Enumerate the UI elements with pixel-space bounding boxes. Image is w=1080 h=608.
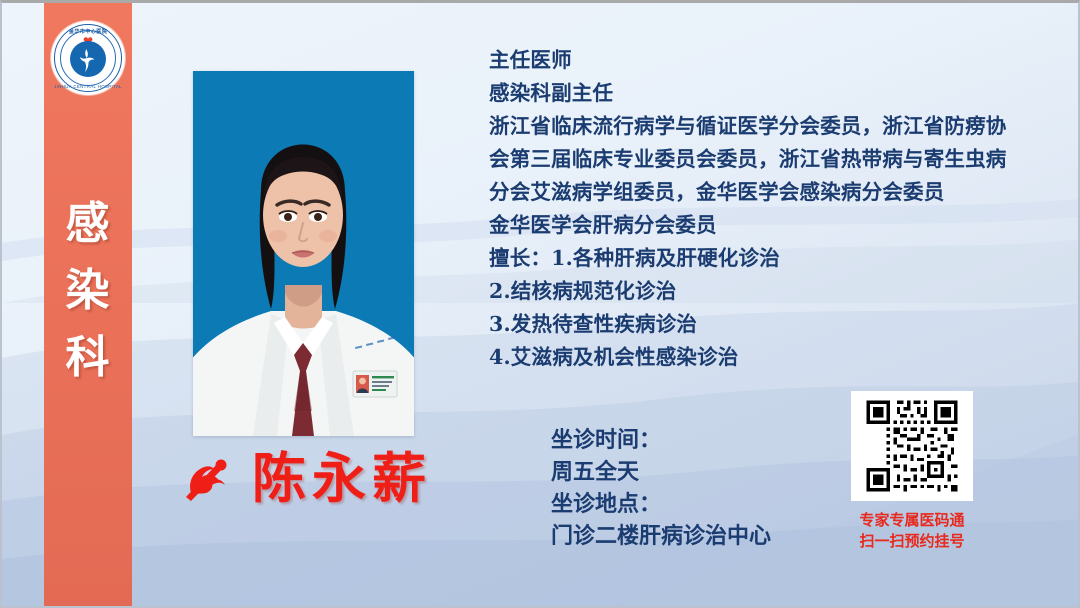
department-char-2: 染 (66, 258, 111, 325)
qr-caption-line-1: 专家专属医码通 (851, 510, 973, 531)
doctor-name: 陈永薪 (252, 452, 432, 506)
hospital-logo-icon: 金华市中心医院 ❤ JINHUA CENTRAL HOSPITAL (51, 21, 125, 95)
qr-section: 专家专属医码通 扫一扫预约挂号 (851, 391, 973, 552)
qr-caption-line-2: 扫一扫预约挂号 (851, 531, 973, 552)
credential-line: 2.结核病规范化诊治 (489, 275, 1067, 308)
cpc-emblem-icon (178, 451, 234, 507)
credentials-block: 主任医师 感染科副主任 浙江省临床流行病学与循证医学分会委员，浙江省防痨协 会第… (489, 44, 1067, 374)
doctor-name-row: 陈永薪 (178, 451, 432, 507)
schedule-location-value: 门诊二楼肝病诊治中心 (551, 520, 771, 552)
logo-arc-bottom-text: JINHUA CENTRAL HOSPITAL (51, 84, 125, 89)
doctor-portrait (193, 71, 414, 436)
credential-line: 感染科副主任 (489, 77, 1067, 110)
department-name: 感 染 科 (66, 191, 111, 392)
credential-line: 3.发热待查性疾病诊治 (489, 308, 1067, 341)
qr-code-image[interactable] (851, 391, 973, 501)
credential-line: 分会艾滋病学组委员，金华医学会感染病分会委员 (489, 176, 1067, 209)
id-badge-icon (353, 371, 397, 397)
schedule-location-label: 坐诊地点： (551, 488, 771, 520)
credential-line: 4.艾滋病及机会性感染诊治 (489, 341, 1067, 374)
credential-line: 擅长：1.各种肝病及肝硬化诊治 (489, 242, 1067, 275)
schedule-time-label: 坐诊时间： (551, 424, 771, 456)
doctor-profile-card: 金华市中心医院 ❤ JINHUA CENTRAL HOSPITAL 感 染 科 (0, 0, 1080, 608)
department-banner: 金华市中心医院 ❤ JINHUA CENTRAL HOSPITAL 感 染 科 (44, 3, 132, 608)
department-char-1: 感 (66, 191, 111, 258)
credential-line: 会第三届临床专业委员会委员，浙江省热带病与寄生虫病 (489, 143, 1067, 176)
qr-code-svg (863, 397, 961, 495)
schedule-time-value: 周五全天 (551, 456, 771, 488)
schedule-block: 坐诊时间： 周五全天 坐诊地点： 门诊二楼肝病诊治中心 (551, 424, 771, 552)
logo-bird-icon (75, 46, 102, 74)
credential-line: 主任医师 (489, 44, 1067, 77)
department-char-3: 科 (66, 325, 111, 392)
qr-caption: 专家专属医码通 扫一扫预约挂号 (851, 510, 973, 552)
credential-line: 浙江省临床流行病学与循证医学分会委员，浙江省防痨协 (489, 110, 1067, 143)
credential-line: 金华医学会肝病分会委员 (489, 209, 1067, 242)
